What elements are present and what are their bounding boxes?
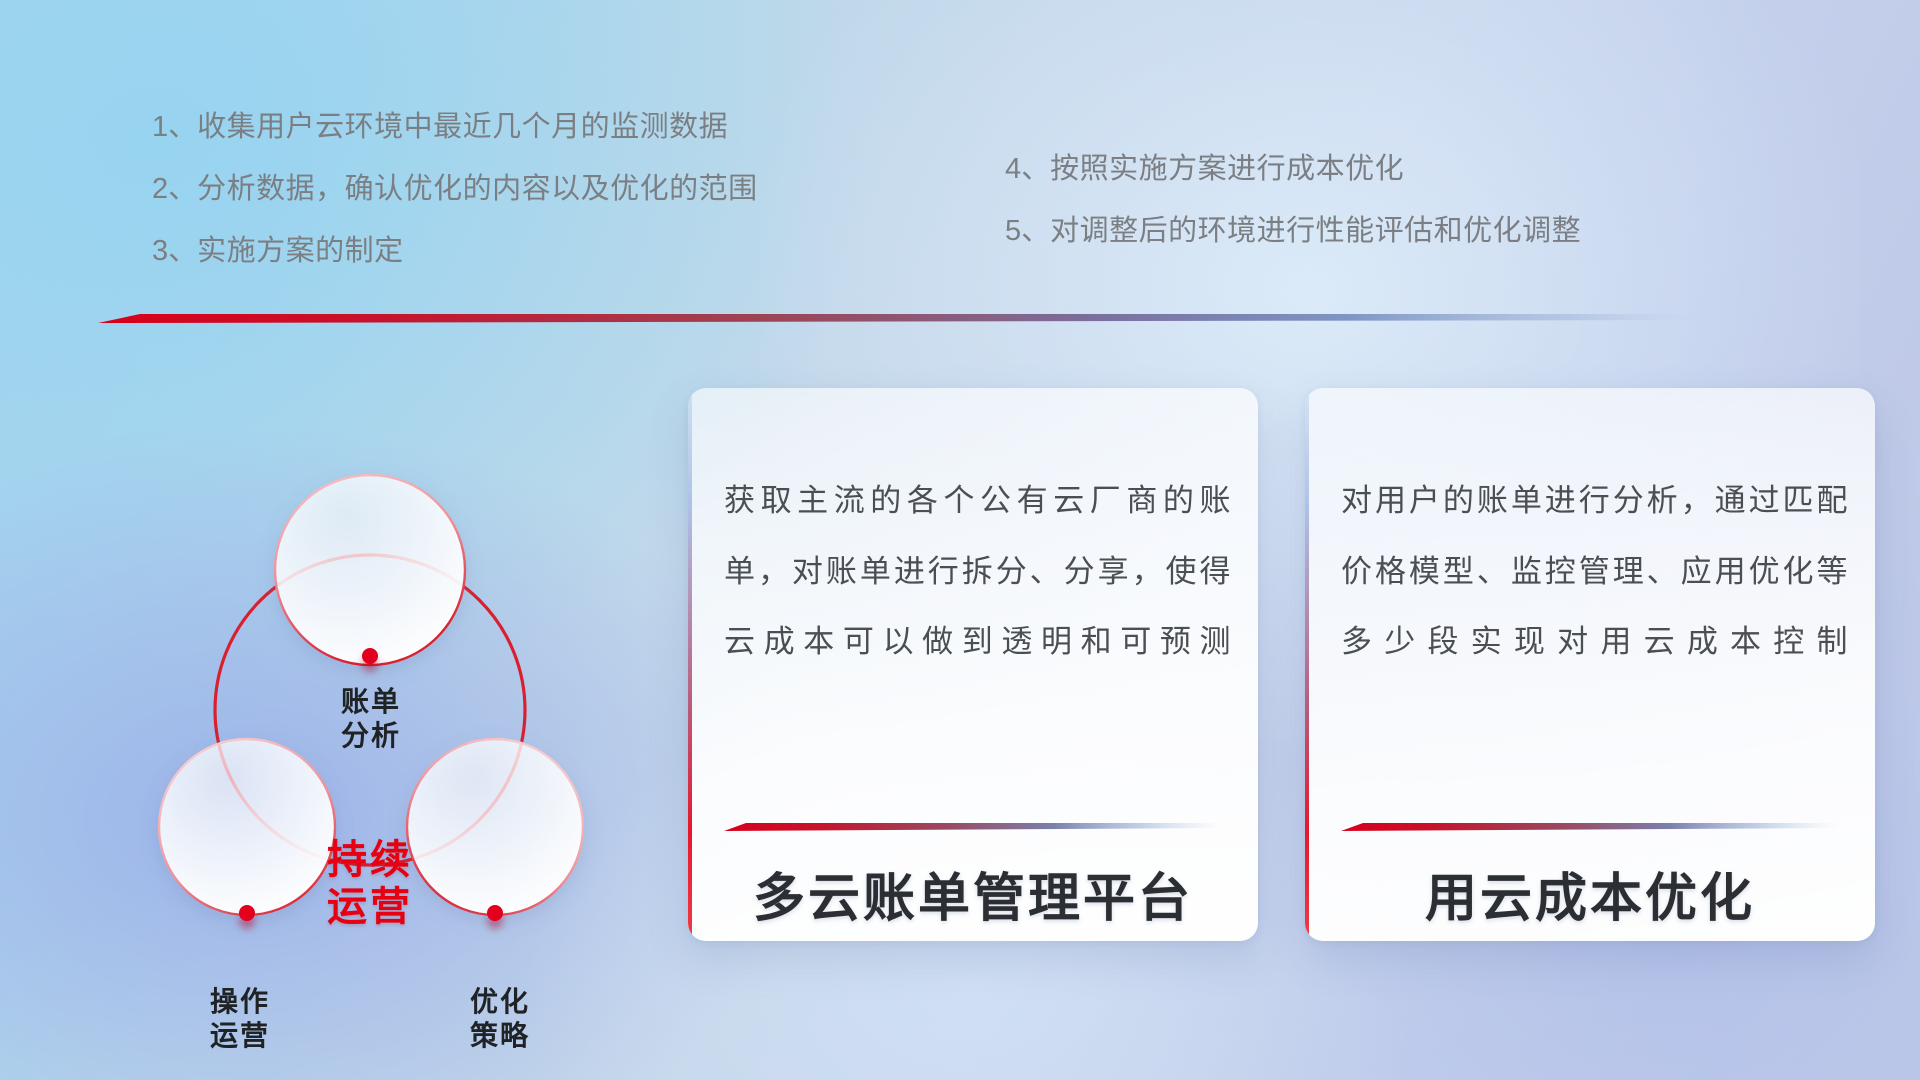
step-list-right: 4、按照实施方案进行成本优化 5、对调整后的环境进行性能评估和优化调整 (1005, 155, 1581, 246)
step-text: 分析数据，确认优化的内容以及优化的范围 (197, 173, 758, 205)
card-divider (724, 820, 1222, 833)
card-title: 用云成本优化 (1305, 856, 1875, 931)
node-label-operations: 操作 运营 (165, 985, 315, 1053)
node-bubble-top (275, 475, 465, 665)
step-text: 实施方案的制定 (197, 235, 404, 267)
connector-dot-left (239, 905, 255, 921)
card-title: 多云账单管理平台 (688, 856, 1258, 931)
node-label-billing-analysis: 账单 分析 (296, 685, 446, 753)
feature-card-cloud-cost-optimization[interactable]: 对用户的账单进行分析，通过匹配价格模型、监控管理、应用优化等多少段实现对用云成本… (1305, 388, 1875, 941)
connector-dot-top (362, 648, 378, 664)
card-description: 对用户的账单进行分析，通过匹配价格模型、监控管理、应用优化等多少段实现对用云成本… (1341, 466, 1849, 678)
slide-canvas: 1、收集用户云环境中最近几个月的监测数据 2、分析数据，确认优化的内容以及优化的… (0, 0, 1920, 1080)
step-item: 1、收集用户云环境中最近几个月的监测数据 (152, 113, 758, 142)
connector-dot-right (487, 905, 503, 921)
node-label-optimization-strategy: 优化 策略 (425, 985, 575, 1053)
step-number: 1、 (152, 111, 197, 143)
step-number: 4、 (1005, 153, 1050, 185)
step-text: 对调整后的环境进行性能评估和优化调整 (1050, 215, 1581, 247)
feature-card-multi-cloud-billing[interactable]: 获取主流的各个公有云厂商的账单，对账单进行拆分、分享，使得云成本可以做到透明和可… (688, 388, 1258, 941)
card-body: 获取主流的各个公有云厂商的账单，对账单进行拆分、分享，使得云成本可以做到透明和可… (724, 466, 1232, 678)
card-description: 获取主流的各个公有云厂商的账单，对账单进行拆分、分享，使得云成本可以做到透明和可… (724, 466, 1232, 678)
card-divider (1341, 820, 1839, 833)
step-number: 2、 (152, 173, 197, 205)
step-item: 5、对调整后的环境进行性能评估和优化调整 (1005, 217, 1581, 246)
step-item: 2、分析数据，确认优化的内容以及优化的范围 (152, 175, 758, 204)
card-body: 对用户的账单进行分析，通过匹配价格模型、监控管理、应用优化等多少段实现对用云成本… (1341, 466, 1849, 678)
diagram-center-label: 持续 运营 (260, 837, 480, 931)
step-item: 4、按照实施方案进行成本优化 (1005, 155, 1581, 184)
step-list-left: 1、收集用户云环境中最近几个月的监测数据 2、分析数据，确认优化的内容以及优化的… (152, 113, 758, 266)
section-divider (98, 310, 1698, 326)
step-number: 5、 (1005, 215, 1050, 247)
step-text: 按照实施方案进行成本优化 (1050, 153, 1404, 185)
step-number: 3、 (152, 235, 197, 267)
step-text: 收集用户云环境中最近几个月的监测数据 (197, 111, 728, 143)
step-item: 3、实施方案的制定 (152, 237, 758, 266)
continuous-operation-diagram: 账单 分析 操作 运营 优化 策略 持续 运营 (95, 355, 635, 955)
